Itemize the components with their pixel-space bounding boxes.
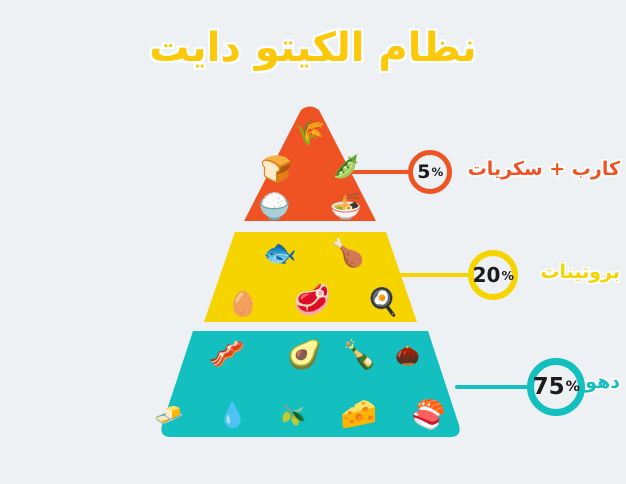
percent-value-fats: 75 — [533, 374, 565, 400]
tier-label-protein: بروتينات — [540, 261, 620, 283]
percent-value-protein: 20 — [473, 263, 501, 287]
keto-diet-pyramid: 5 % 20 % 75 % كارب + سكريات بروتينات دهو… — [0, 0, 626, 484]
percent-badge-fats[interactable]: 75 % — [527, 358, 585, 416]
percent-badge-protein[interactable]: 20 % — [468, 250, 518, 300]
tier-shape-carbs[interactable] — [244, 107, 376, 222]
percent-symbol-protein: % — [501, 268, 513, 283]
tier-shape-protein[interactable] — [204, 232, 417, 322]
pyramid-shapes — [0, 0, 626, 484]
connector-line-carbs — [340, 170, 418, 174]
percent-symbol-carbs: % — [431, 165, 442, 179]
percent-value-carbs: 5 — [417, 161, 430, 183]
tier-label-carbs: كارب + سكريات — [468, 158, 620, 180]
percent-badge-carbs[interactable]: 5 % — [408, 150, 452, 194]
percent-symbol-fats: % — [566, 379, 580, 395]
tier-shape-fats[interactable] — [161, 331, 459, 437]
